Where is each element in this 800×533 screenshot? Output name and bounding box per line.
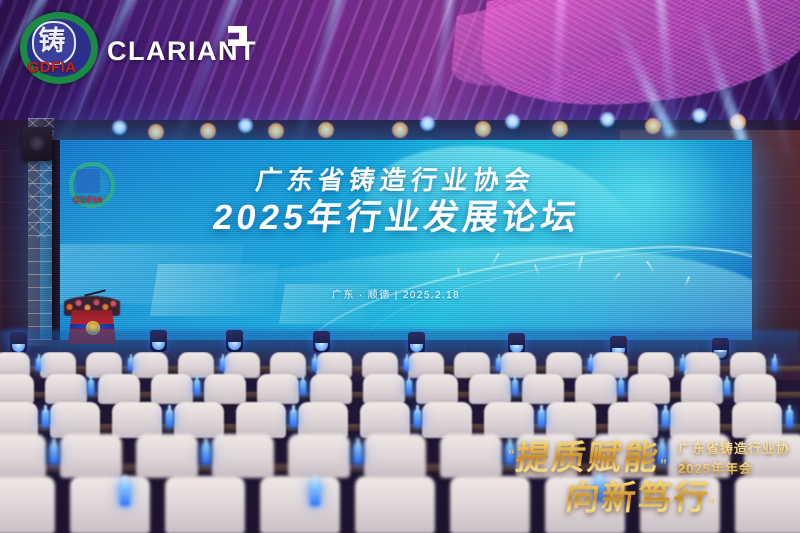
stage-front-light xyxy=(408,332,425,354)
audience-chair xyxy=(70,476,150,533)
water-bottle xyxy=(496,358,501,371)
water-bottle xyxy=(50,444,58,464)
audience-chair xyxy=(363,374,405,404)
audience-chair xyxy=(288,434,350,478)
par-light xyxy=(475,121,491,137)
audience-chair xyxy=(236,402,286,438)
moving-head-lamp xyxy=(420,116,435,131)
audience-chair xyxy=(0,434,46,478)
event-slogan-overlay: “ 提质赋能 ” 向新笃行 ” 广东省铸造行业协会 2025年年会 xyxy=(508,424,800,520)
water-bottle xyxy=(88,380,94,395)
audience-chair xyxy=(45,374,87,404)
par-light xyxy=(645,118,661,134)
audience-chair xyxy=(174,402,224,438)
stage-front-light xyxy=(10,332,27,354)
moving-head-lamp xyxy=(112,120,127,135)
audience-chair xyxy=(422,402,472,438)
line-array-speaker xyxy=(22,127,52,161)
audience-chair xyxy=(298,402,348,438)
audience-chair xyxy=(469,374,511,404)
audience-chair xyxy=(734,374,776,404)
screen-frame-edge xyxy=(52,140,60,340)
par-light xyxy=(268,123,284,139)
led-stage-screen: GDFIA 广东省铸造行业协会 2025年行业发展论坛 广东 · 顺德 | 20… xyxy=(40,140,752,340)
audience-chair xyxy=(212,434,274,478)
water-bottle xyxy=(354,444,362,464)
screen-title-line-2: 2025年行业发展论坛 xyxy=(210,199,582,238)
water-bottle xyxy=(128,358,133,371)
audience-chair xyxy=(151,374,193,404)
water-bottle xyxy=(120,482,130,506)
audience-chair xyxy=(0,374,34,404)
audience-chair xyxy=(112,402,162,438)
water-bottle xyxy=(166,410,173,427)
audience-chair xyxy=(50,402,100,438)
audience-chair xyxy=(681,374,723,404)
moving-head-lamp xyxy=(692,108,707,123)
slogan-event-name: 2025年年会 xyxy=(678,458,753,477)
water-bottle xyxy=(36,358,41,371)
par-light xyxy=(552,121,568,137)
par-light xyxy=(730,114,746,130)
audience-chair xyxy=(260,476,340,533)
audience-chair xyxy=(165,476,245,533)
moving-head-lamp xyxy=(505,114,520,129)
audience-chair xyxy=(0,476,55,533)
stage-front-light xyxy=(313,331,330,353)
par-light xyxy=(392,122,408,138)
association-logo: 铸 GDFIA xyxy=(16,12,88,82)
screen-subtitle: 广东 · 顺德 | 2025.2.18 xyxy=(40,286,752,301)
brand-overlay-bar: 铸 GDFIA CLARIANT xyxy=(0,0,300,100)
par-light xyxy=(318,122,334,138)
audience-chair xyxy=(98,374,140,404)
stage-front-light xyxy=(150,330,167,352)
audience-chair xyxy=(310,374,352,404)
stage-front-light xyxy=(226,330,243,352)
water-bottle xyxy=(300,380,306,395)
audience-chair xyxy=(136,434,198,478)
association-wordmark: GDFIA xyxy=(16,59,88,76)
water-bottle xyxy=(310,482,320,506)
slogan-line-2: 向新笃行 xyxy=(563,470,713,519)
water-bottle xyxy=(202,444,210,464)
water-bottle xyxy=(406,380,412,395)
zhu-character-icon: 铸 xyxy=(32,20,72,62)
water-bottle xyxy=(194,380,200,395)
audience-chair xyxy=(416,374,458,404)
par-light xyxy=(148,124,164,140)
audience-chair xyxy=(440,434,502,478)
water-bottle xyxy=(724,380,730,395)
par-light xyxy=(200,123,216,139)
water-bottle xyxy=(312,358,317,371)
audience-chair xyxy=(204,374,246,404)
conference-stage-photo: GDFIA 广东省铸造行业协会 2025年行业发展论坛 广东 · 顺德 | 20… xyxy=(0,0,800,533)
audience-chair xyxy=(575,374,617,404)
water-bottle xyxy=(404,358,409,371)
audience-chair xyxy=(0,402,38,438)
audience-chair xyxy=(628,374,670,404)
moving-head-lamp xyxy=(600,112,615,127)
water-bottle xyxy=(414,410,421,427)
water-bottle xyxy=(512,380,518,395)
audience-chair xyxy=(360,402,410,438)
audience-chair xyxy=(257,374,299,404)
moving-head-lamp xyxy=(238,118,253,133)
water-bottle xyxy=(220,358,225,371)
water-bottle xyxy=(680,358,685,371)
water-bottle xyxy=(588,358,593,371)
audience-chair xyxy=(60,434,122,478)
audience-chair xyxy=(522,374,564,404)
speaker-cone-icon xyxy=(29,135,45,151)
water-bottle xyxy=(772,358,777,371)
water-bottle xyxy=(42,410,49,427)
quote-close-icon-2: ” xyxy=(708,496,715,512)
audience-chair xyxy=(355,476,435,533)
screen-title-line-1: 广东省铸造行业协会 xyxy=(254,166,537,195)
screen-title-block: 广东省铸造行业协会 2025年行业发展论坛 xyxy=(40,166,752,237)
quote-open-icon: “ xyxy=(508,446,515,462)
audience-chair xyxy=(364,434,426,478)
water-bottle xyxy=(618,380,624,395)
water-bottle xyxy=(290,410,297,427)
